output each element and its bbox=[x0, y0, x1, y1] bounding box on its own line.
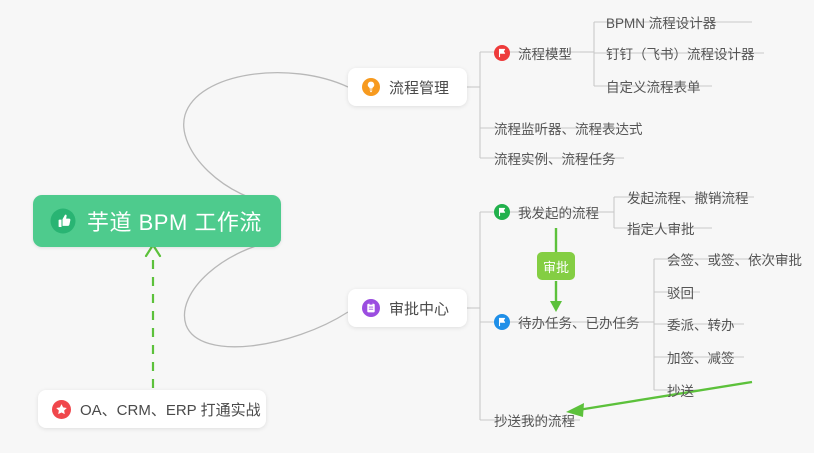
flag-icon-red bbox=[494, 45, 510, 61]
integration-callout-label: OA、CRM、ERP 打通实战 bbox=[80, 399, 261, 420]
integration-callout-node[interactable]: OA、CRM、ERP 打通实战 bbox=[38, 390, 266, 428]
mindmap-canvas: 芋道 BPM 工作流 流程管理 审批中心 bbox=[0, 0, 814, 453]
star-icon bbox=[52, 400, 71, 419]
node-label-countersign-orsign-sequential: 会签、或签、依次审批 bbox=[667, 249, 802, 269]
node-add-remove-sign[interactable]: 加签、减签 bbox=[665, 342, 735, 372]
root-node[interactable]: 芋道 BPM 工作流 bbox=[33, 195, 281, 247]
branch-label-approval-center: 审批中心 bbox=[389, 298, 449, 319]
node-label-custom-process-form: 自定义流程表单 bbox=[606, 76, 701, 96]
branch-node-approval-center[interactable]: 审批中心 bbox=[348, 289, 467, 327]
approval-badge: 审批 bbox=[537, 252, 575, 280]
node-start-cancel-process[interactable]: 发起流程、撤销流程 bbox=[625, 182, 749, 212]
root-label: 芋道 BPM 工作流 bbox=[87, 205, 262, 237]
annotation-arrow-cc-to-ccmine bbox=[566, 382, 752, 417]
node-label-todo-done-tasks: 待办任务、已办任务 bbox=[518, 312, 640, 332]
node-bpmn-designer[interactable]: BPMN 流程设计器 bbox=[604, 7, 716, 37]
node-label-start-cancel-process: 发起流程、撤销流程 bbox=[627, 187, 749, 207]
flag-icon-blue bbox=[494, 314, 510, 330]
edge-root-to-approval-center bbox=[184, 240, 348, 347]
edge-root-to-process-management bbox=[184, 73, 348, 205]
node-process-listener-expression[interactable]: 流程监听器、流程表达式 bbox=[492, 113, 643, 143]
node-label-assignee-approval: 指定人审批 bbox=[627, 218, 695, 238]
node-todo-done-tasks[interactable]: 待办任务、已办任务 bbox=[492, 307, 640, 337]
node-label-carbon-copy: 抄送 bbox=[667, 380, 694, 400]
node-assignee-approval[interactable]: 指定人审批 bbox=[625, 213, 695, 243]
node-reject[interactable]: 驳回 bbox=[665, 277, 694, 307]
node-label-reject: 驳回 bbox=[667, 282, 694, 302]
node-process-model[interactable]: 流程模型 bbox=[492, 38, 572, 68]
node-label-process-instance-task: 流程实例、流程任务 bbox=[494, 148, 616, 168]
branch-node-process-management[interactable]: 流程管理 bbox=[348, 68, 467, 106]
clipboard-icon bbox=[362, 299, 380, 317]
thumbs-up-icon bbox=[50, 208, 76, 234]
node-cc-to-me-process[interactable]: 抄送我的流程 bbox=[492, 405, 575, 435]
flag-icon-green bbox=[494, 204, 510, 220]
node-label-delegate-transfer: 委派、转办 bbox=[667, 314, 735, 334]
node-label-process-listener-expression: 流程监听器、流程表达式 bbox=[494, 118, 643, 138]
node-my-initiated-process[interactable]: 我发起的流程 bbox=[492, 197, 599, 227]
node-delegate-transfer[interactable]: 委派、转办 bbox=[665, 309, 735, 339]
node-label-my-initiated-process: 我发起的流程 bbox=[518, 202, 599, 222]
node-process-instance-task[interactable]: 流程实例、流程任务 bbox=[492, 143, 616, 173]
node-label-bpmn-designer: BPMN 流程设计器 bbox=[606, 12, 716, 32]
node-carbon-copy[interactable]: 抄送 bbox=[665, 375, 694, 405]
node-custom-process-form[interactable]: 自定义流程表单 bbox=[604, 71, 701, 101]
node-label-process-model: 流程模型 bbox=[518, 43, 572, 63]
node-label-add-remove-sign: 加签、减签 bbox=[667, 347, 735, 367]
node-countersign-orsign-sequential[interactable]: 会签、或签、依次审批 bbox=[665, 244, 802, 274]
node-dingtalk-feishu-designer[interactable]: 钉钉（飞书）流程设计器 bbox=[604, 38, 755, 68]
lightbulb-icon bbox=[362, 78, 380, 96]
node-label-dingtalk-feishu-designer: 钉钉（飞书）流程设计器 bbox=[606, 43, 755, 63]
branch-label-process-management: 流程管理 bbox=[389, 77, 449, 98]
annotation-arrow-callout-to-root bbox=[146, 245, 160, 388]
approval-badge-label: 审批 bbox=[543, 257, 569, 276]
node-label-cc-to-me-process: 抄送我的流程 bbox=[494, 410, 575, 430]
